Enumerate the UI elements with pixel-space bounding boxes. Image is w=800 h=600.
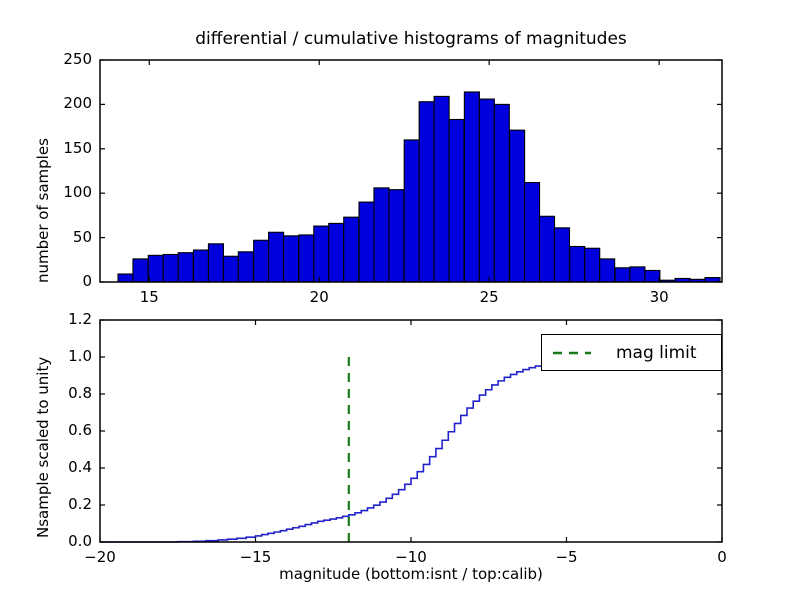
tick-label: −15	[240, 548, 272, 566]
tick-label: −10	[395, 548, 427, 566]
mag-limit-legend-swatch-icon	[550, 343, 594, 363]
cumulative-histogram-plot	[0, 0, 800, 600]
tick-label: 0	[717, 548, 727, 566]
tick-label: 0.6	[68, 421, 92, 439]
legend[interactable]: mag limit	[541, 334, 722, 371]
bottom-x-axis-title: magnitude (bottom:isnt / top:calib)	[100, 565, 722, 583]
figure-canvas: differential / cumulative histograms of …	[0, 0, 800, 600]
cumulative-curve	[100, 357, 722, 542]
bottom-y-axis-title: Nsample scaled to unity	[34, 357, 52, 538]
tick-label: 1.2	[68, 310, 92, 328]
tick-label: −5	[555, 548, 577, 566]
tick-label: 0.2	[68, 495, 92, 513]
tick-label: 0.8	[68, 384, 92, 402]
legend-label-mag-limit: mag limit	[616, 343, 697, 363]
tick-label: 1.0	[68, 347, 92, 365]
cumulative-histogram-subplot: Nsample scaled to unity magnitude (botto…	[0, 0, 800, 600]
tick-label: −20	[84, 548, 116, 566]
tick-label: 0.4	[68, 458, 92, 476]
